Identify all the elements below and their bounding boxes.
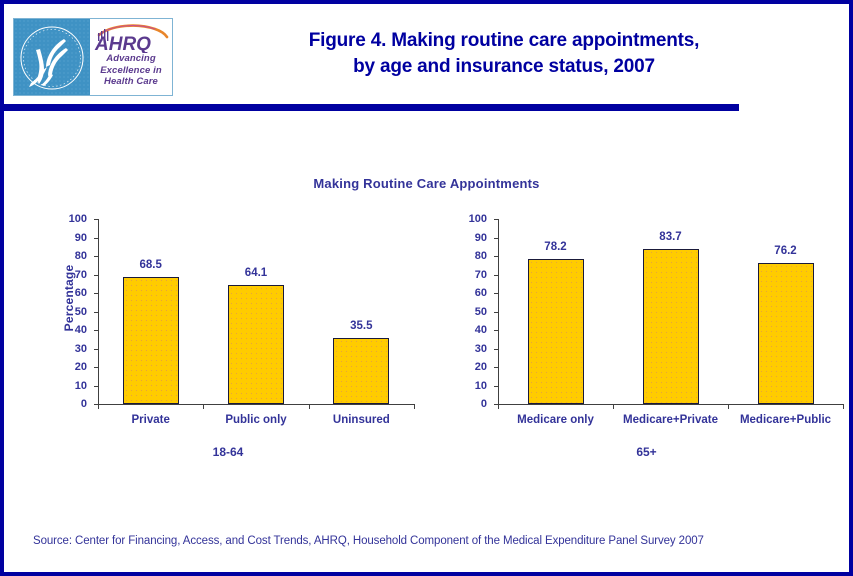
group-label-18-64: 18-64 (70, 445, 386, 459)
y-tick-label: 0 (481, 398, 487, 410)
page-header: AHRQ Advancing Excellence in Health Care (4, 4, 849, 106)
bar-private (123, 277, 179, 404)
ahrq-tagline-line2: Excellence in (100, 65, 162, 77)
chart-panel-65-plus: 0102030405060708090100 78.2Medicare only… (454, 219, 844, 469)
figure-title-line-1: Figure 4. Making routine care appointmen… (184, 28, 824, 54)
y-tick: 80 (94, 256, 99, 257)
ahrq-wordmark: AHRQ Advancing Excellence in Health Care (90, 19, 172, 95)
y-tick-label: 20 (75, 361, 87, 373)
x-category-label: Private (131, 414, 169, 426)
bar-medicare-only (528, 259, 584, 404)
x-category-label: Public only (225, 414, 286, 426)
svg-text:AHRQ: AHRQ (94, 34, 151, 53)
y-tick-label: 90 (475, 232, 487, 244)
bar-uninsured (333, 338, 389, 404)
y-tick-label: 80 (475, 250, 487, 262)
x-category-label: Medicare only (517, 414, 594, 426)
y-tick-label: 10 (75, 380, 87, 392)
figure-title: Figure 4. Making routine care appointmen… (184, 28, 824, 80)
y-tick-label: 100 (69, 213, 87, 225)
y-tick-label: 70 (475, 269, 487, 281)
y-tick: 70 (494, 275, 499, 276)
y-tick-label: 40 (475, 324, 487, 336)
x-category-label: Medicare+Private (623, 414, 718, 426)
x-tick (728, 404, 729, 409)
x-tick (203, 404, 204, 409)
y-tick: 10 (94, 386, 99, 387)
x-axis-line (98, 404, 414, 405)
x-tick (613, 404, 614, 409)
figure-page: AHRQ Advancing Excellence in Health Care (0, 0, 853, 576)
y-tick: 90 (494, 238, 499, 239)
y-tick: 50 (494, 312, 499, 313)
bar-value-label: 83.7 (659, 231, 681, 243)
y-tick-label: 10 (475, 380, 487, 392)
y-tick-label: 20 (475, 361, 487, 373)
source-note: Source: Center for Financing, Access, an… (33, 535, 704, 547)
plot-area-right: 0102030405060708090100 78.2Medicare only… (498, 219, 843, 404)
bar-value-label: 64.1 (245, 267, 267, 279)
y-tick-label: 60 (75, 287, 87, 299)
y-tick: 40 (94, 330, 99, 331)
y-tick: 30 (94, 349, 99, 350)
y-tick: 40 (494, 330, 499, 331)
y-tick-label: 50 (475, 306, 487, 318)
y-tick: 60 (94, 293, 99, 294)
bar-public-only (228, 285, 284, 404)
ahrq-tagline-line1: Advancing (106, 53, 155, 65)
hhs-seal-icon (14, 19, 90, 95)
y-tick: 90 (94, 238, 99, 239)
bar-medicare-public (758, 263, 814, 404)
x-tick (843, 404, 844, 409)
chart-panel-18-64: Percentage 0102030405060708090100 68.5Pr… (30, 219, 420, 469)
y-tick: 100 (94, 219, 99, 220)
y-tick: 20 (494, 367, 499, 368)
x-tick (498, 404, 499, 409)
chart-title: Making Routine Care Appointments (4, 176, 849, 191)
bar-value-label: 35.5 (350, 320, 372, 332)
y-tick-label: 40 (75, 324, 87, 336)
y-tick-label: 80 (75, 250, 87, 262)
y-tick-label: 70 (75, 269, 87, 281)
bar-value-label: 78.2 (544, 241, 566, 253)
y-tick: 70 (94, 275, 99, 276)
x-axis-line (498, 404, 843, 405)
figure-title-line-2: by age and insurance status, 2007 (184, 54, 824, 80)
x-tick (414, 404, 415, 409)
y-tick-label: 60 (475, 287, 487, 299)
x-tick (98, 404, 99, 409)
x-category-label: Uninsured (333, 414, 390, 426)
y-tick-label: 90 (75, 232, 87, 244)
bar-medicare-private (643, 249, 699, 404)
y-tick-label: 30 (75, 343, 87, 355)
y-tick: 60 (494, 293, 499, 294)
y-tick-label: 50 (75, 306, 87, 318)
x-tick (309, 404, 310, 409)
y-tick: 100 (494, 219, 499, 220)
ahrq-acronym-icon: AHRQ (93, 23, 169, 53)
header-divider (4, 104, 739, 111)
x-category-label: Medicare+Public (740, 414, 831, 426)
y-tick-label: 0 (81, 398, 87, 410)
y-tick: 30 (494, 349, 499, 350)
y-tick: 50 (94, 312, 99, 313)
y-tick-label: 30 (475, 343, 487, 355)
group-label-65-plus: 65+ (474, 445, 819, 459)
plot-area-left: 0102030405060708090100 68.5Private64.1Pu… (98, 219, 414, 404)
y-tick: 20 (94, 367, 99, 368)
bar-value-label: 68.5 (139, 259, 161, 271)
ahrq-logo: AHRQ Advancing Excellence in Health Care (13, 18, 173, 96)
ahrq-tagline-line3: Health Care (104, 76, 158, 88)
y-tick-label: 100 (469, 213, 487, 225)
y-tick: 80 (494, 256, 499, 257)
bar-value-label: 76.2 (774, 245, 796, 257)
y-tick: 10 (494, 386, 499, 387)
hhs-eagle-icon (14, 19, 90, 95)
